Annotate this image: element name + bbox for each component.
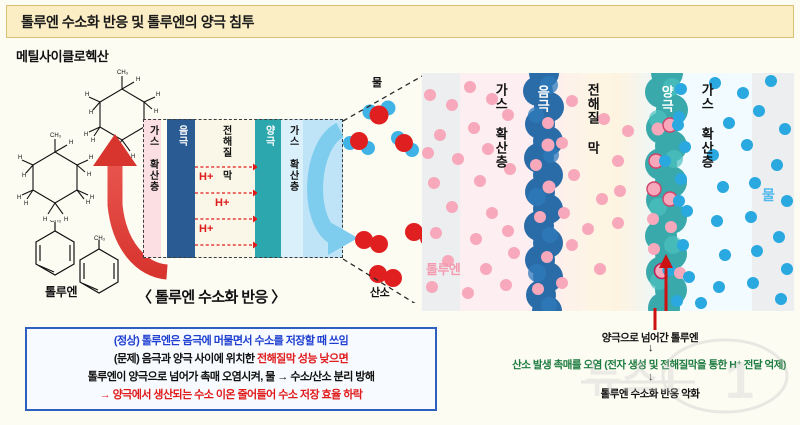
panel-label-water-bulk: 물	[762, 185, 775, 205]
note-line: (정상) 톨루엔은 음극에 머물면서 수소를 저장할 때 쓰임	[114, 333, 348, 351]
panel-label-gdl-right: 가스 확산층	[700, 83, 713, 169]
svg-text:H: H	[136, 77, 140, 83]
panel-label-anode: 양극	[660, 85, 673, 113]
svg-text:H: H	[156, 92, 160, 98]
title-bar: 톨루엔 수소화 반응 및 톨루엔의 양극 침투	[6, 5, 794, 38]
flow-arrow-2: ↓	[648, 372, 654, 383]
panel-label-gdl-left: 가스 확산층	[494, 83, 507, 169]
note-line: 톨루엔이 양극으로 넘어가 촉매 오염시켜, 물 → 수소/산소 분리 방해	[88, 369, 375, 387]
panel-label-cathode: 음극	[536, 85, 549, 113]
svg-text:CH₃: CH₃	[117, 70, 129, 76]
page-title: 톨루엔 수소화 반응 및 톨루엔의 양극 침투	[21, 12, 254, 32]
toluene-label-left: 톨루엔	[45, 283, 77, 300]
flow-step-1: 양극으로 넘어간 톨루엔	[470, 330, 800, 345]
flow-arrow-1: ↓	[648, 343, 654, 354]
svg-text:CH₃: CH₃	[50, 133, 62, 139]
flow-step-2: 산소 발생 촉매를 오염 (전자 생성 및 전해질막을 통한 H⁺ 전달 억제)	[434, 357, 800, 372]
svg-text:H: H	[17, 195, 21, 201]
svg-text:CH₃: CH₃	[50, 220, 62, 224]
panel-label-membrane: 전해질 막	[586, 83, 599, 155]
svg-text:H: H	[85, 92, 89, 98]
diagram-root: 톨루엔 수소화 반응 및 톨루엔의 양극 침투 메틸사이클로헥산 CH₃HH	[0, 0, 800, 425]
svg-text:H: H	[69, 140, 73, 146]
explanation-note-box: (정상) 톨루엔은 음극에 머물면서 수소를 저장할 때 쓰임 (문제) 음극과…	[25, 327, 437, 411]
note-line: (문제) 음극과 양극 사이에 위치한 전해질막 성능 낮으면	[114, 351, 348, 369]
membrane-detail-panel: 가스 확산층 음극 전해질 막 양극 가스 확산층 톨루엔 물	[422, 73, 794, 311]
svg-text:H: H	[22, 173, 26, 179]
note-line: → 양극에서 생산되는 수소 이온 줄어들어 수소 저장 효율 하락	[100, 387, 363, 405]
panel-label-toluene-bulk: 톨루엔	[426, 259, 460, 278]
flow-step-3: 톨루엔 수소화 반응 악화	[470, 386, 800, 401]
svg-text:H: H	[18, 155, 22, 161]
svg-text:H: H	[24, 201, 28, 207]
toluene-crossover-arrow	[654, 248, 678, 311]
